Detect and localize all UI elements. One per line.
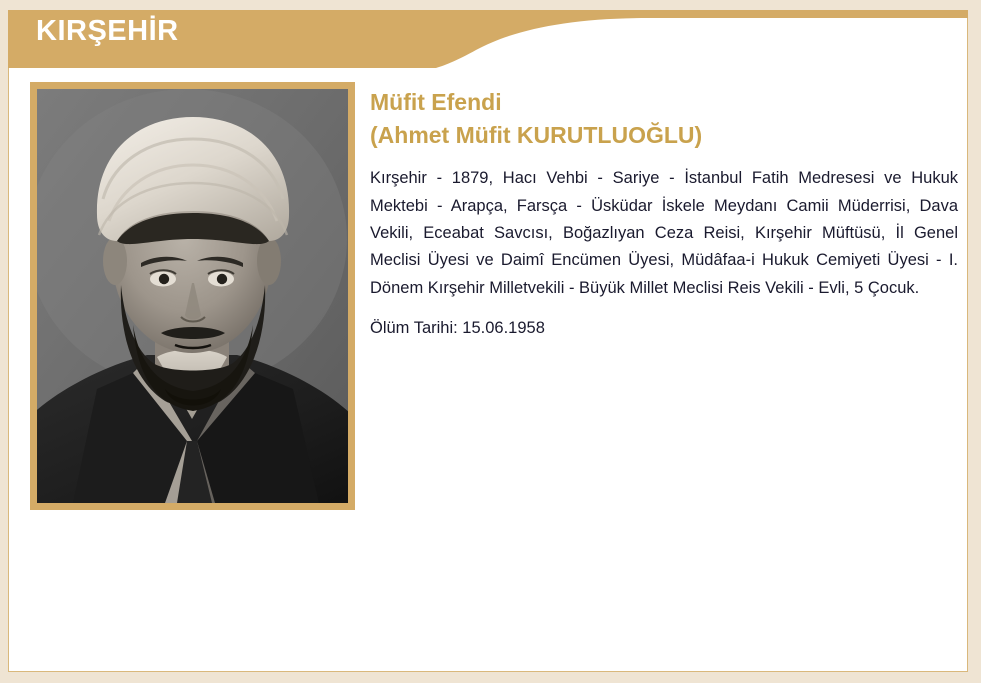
portrait-photo [37, 89, 348, 503]
biography-content: Müfit Efendi (Ahmet Müfit KURUTLUOĞLU) K… [370, 86, 962, 343]
biography-paragraph: Kırşehir - 1879, Hacı Vehbi - Sariye - İ… [370, 165, 958, 302]
death-date: Ölüm Tarihi: 15.06.1958 [370, 315, 962, 342]
biography-card-page: KIRŞEHİR [0, 0, 981, 683]
province-title: KIRŞEHİR [36, 17, 179, 46]
person-full-name: (Ahmet Müfit KURUTLUOĞLU) [370, 119, 962, 152]
portrait-frame [30, 82, 355, 510]
person-name: Müfit Efendi [370, 86, 962, 119]
